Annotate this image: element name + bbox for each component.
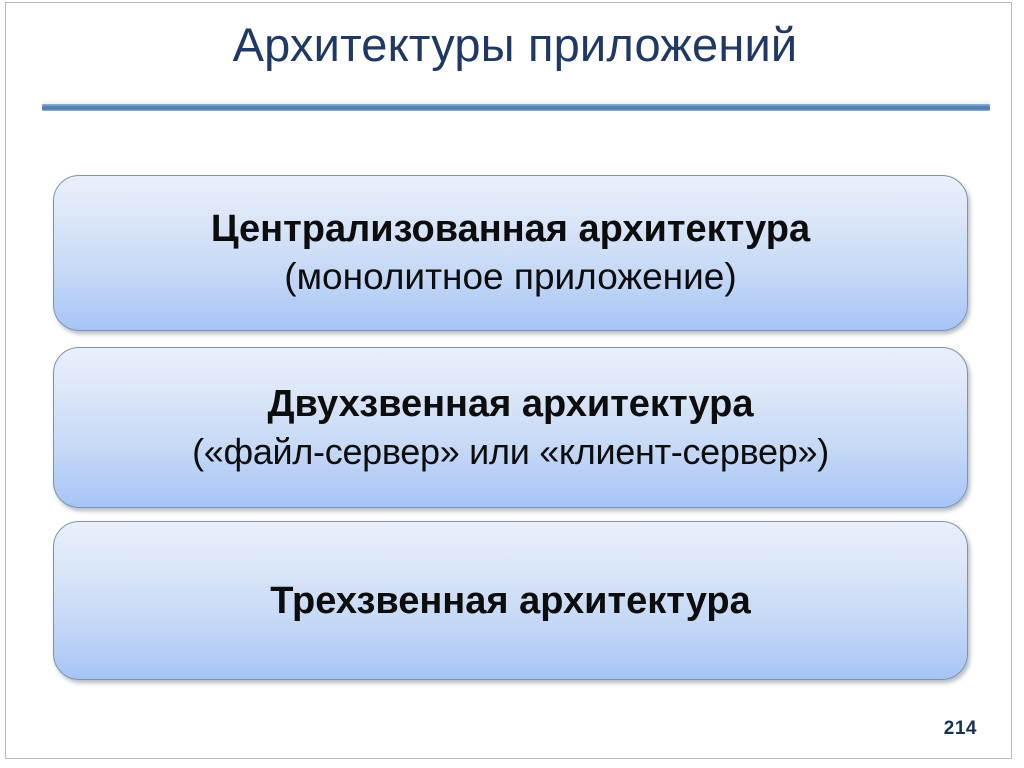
architecture-box-two-tier[interactable]: Двухзвенная архитектура («файл-сервер» и…: [53, 347, 968, 508]
architecture-box-centralized[interactable]: Централизованная архитектура (монолитное…: [53, 175, 968, 331]
title-block: Архитектуры приложений: [40, 16, 990, 74]
architecture-box-title: Двухзвенная архитектура: [267, 380, 753, 428]
slide: Архитектуры приложений Централизованная …: [0, 0, 1024, 768]
page-title: Архитектуры приложений: [40, 16, 990, 74]
architecture-box-title: Трехзвенная архитектура: [270, 577, 751, 625]
page-number: 214: [944, 718, 977, 740]
title-underline-rule: [42, 104, 990, 111]
architecture-box-subtitle: (монолитное приложение): [284, 253, 736, 301]
architecture-box-three-tier[interactable]: Трехзвенная архитектура: [53, 521, 968, 680]
architecture-box-subtitle: («файл-сервер» или «клиент-сервер»): [192, 428, 829, 476]
architecture-box-title: Централизованная архитектура: [211, 205, 810, 253]
